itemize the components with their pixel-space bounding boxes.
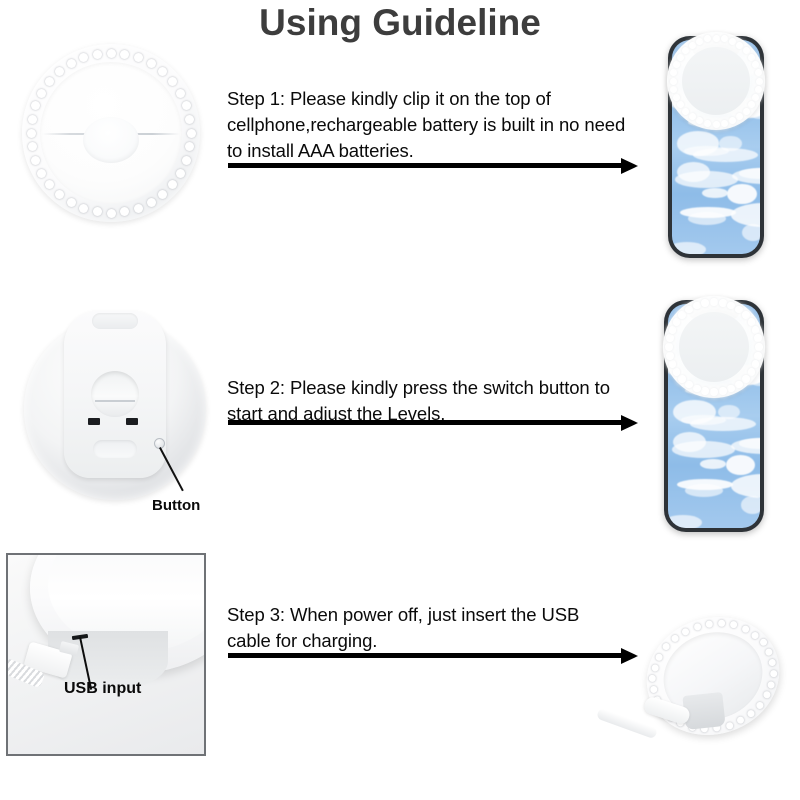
led-dot <box>666 352 674 360</box>
arrow-head-icon <box>621 415 638 431</box>
led-dot <box>765 648 774 657</box>
led-dot <box>28 115 37 124</box>
ring-light-clip-arm <box>64 311 166 478</box>
led-dot <box>719 387 727 395</box>
clipped-ring-light-step-1 <box>667 32 765 130</box>
led-dot <box>678 375 686 383</box>
led-dot <box>693 622 702 631</box>
led-dot <box>701 299 709 307</box>
led-dot <box>754 352 762 360</box>
led-dot <box>55 190 64 199</box>
cloud-shape <box>688 212 726 225</box>
led-dot <box>769 669 778 678</box>
led-dot <box>717 619 726 628</box>
ring-light-aperture <box>679 312 749 382</box>
cloud-shape <box>668 515 702 528</box>
led-dot <box>743 47 750 54</box>
led-dot <box>182 156 191 165</box>
led-dot <box>168 180 177 189</box>
led-dot <box>741 624 750 633</box>
led-dot <box>67 59 76 68</box>
led-dot <box>743 108 750 115</box>
led-dot <box>670 78 677 85</box>
led-dot <box>669 360 677 368</box>
clip-tab <box>92 313 138 329</box>
led-dot <box>752 61 759 68</box>
cloud-shape <box>731 438 760 454</box>
cloud-shape <box>672 441 735 458</box>
led-dot <box>27 129 36 138</box>
step-3-text: Step 3: When power off, just insert the … <box>227 602 627 654</box>
led-dot <box>649 685 658 694</box>
clip-contact-left <box>88 418 100 425</box>
led-dot <box>187 129 196 138</box>
cloud-shape <box>749 251 760 254</box>
led-dot <box>134 204 143 213</box>
ring-light-led-ring <box>631 600 758 641</box>
step-2-arrow <box>228 415 638 431</box>
led-dot <box>655 653 664 662</box>
led-dot <box>93 207 102 216</box>
led-dot <box>729 117 736 124</box>
usb-input-photo: USB input <box>6 553 206 756</box>
led-dot <box>696 117 703 124</box>
led-dot <box>176 89 185 98</box>
usb-callout-label: USB input <box>64 680 141 698</box>
led-dot <box>727 302 735 310</box>
led-dot <box>93 50 102 59</box>
led-dot <box>685 381 693 389</box>
led-dot <box>689 113 696 120</box>
led-dot <box>79 204 88 213</box>
clip-contact-right <box>126 418 138 425</box>
led-dot <box>713 121 720 128</box>
cloud-shape <box>742 224 760 242</box>
led-dot <box>37 89 46 98</box>
arrow-shaft <box>228 163 622 168</box>
led-dot <box>665 343 673 351</box>
led-dot <box>713 35 720 42</box>
led-dot <box>673 94 680 101</box>
led-dot <box>693 385 701 393</box>
arrow-head-icon <box>621 158 638 174</box>
led-dot <box>670 69 677 76</box>
clip-camera-hole <box>91 371 139 417</box>
led-dot <box>176 169 185 178</box>
clipped-ring-light-step-2 <box>663 296 765 398</box>
cloud-shape <box>726 455 755 475</box>
led-dot <box>648 674 657 683</box>
led-dot <box>669 326 677 334</box>
using-guideline-infographic: Using Guideline Step 1: Please kindly cl… <box>0 0 800 800</box>
cloud-shape <box>731 203 760 227</box>
led-dot <box>752 360 760 368</box>
arrow-head-icon <box>621 648 638 664</box>
led-dot <box>756 701 765 710</box>
led-dot <box>107 209 116 218</box>
led-dot <box>677 54 684 61</box>
step-3-arrow <box>228 648 638 664</box>
ring-light-front-view-image <box>22 44 200 222</box>
led-dot <box>673 368 681 376</box>
led-dot <box>767 680 776 689</box>
led-dot <box>158 190 167 199</box>
led-dot <box>693 302 701 310</box>
led-dot <box>735 381 743 389</box>
led-dot <box>754 334 762 342</box>
led-dot <box>67 198 76 207</box>
led-dot <box>685 306 693 314</box>
led-dot <box>721 120 728 127</box>
led-dot <box>755 69 762 76</box>
led-dot <box>710 388 718 396</box>
led-dot <box>182 101 191 110</box>
led-dot <box>752 94 759 101</box>
led-dot <box>682 108 689 115</box>
ring-light-lens <box>83 117 139 163</box>
led-dot <box>681 627 690 636</box>
cloud-shape <box>731 474 760 498</box>
led-dot <box>729 38 736 45</box>
led-dot <box>752 326 760 334</box>
led-dot <box>755 86 762 93</box>
step-1-arrow <box>228 158 638 174</box>
cloud-shape <box>749 525 760 528</box>
clip-slot <box>93 440 137 458</box>
cloud-shape <box>741 496 760 514</box>
cloud-shape <box>727 184 756 204</box>
led-dot <box>168 77 177 86</box>
led-dot <box>147 59 156 68</box>
led-dot <box>755 343 763 351</box>
led-dot <box>742 375 750 383</box>
led-dot <box>650 663 659 672</box>
led-dot <box>37 169 46 178</box>
cloud-shape <box>685 484 723 497</box>
led-dot <box>704 120 711 127</box>
arrow-shaft <box>228 420 622 425</box>
led-dot <box>748 101 755 108</box>
led-dot <box>751 631 760 640</box>
led-dot <box>696 38 703 45</box>
led-dot <box>719 299 727 307</box>
led-dot <box>682 47 689 54</box>
led-dot <box>748 368 756 376</box>
ring-light-back-view-image <box>24 318 206 500</box>
led-dot <box>661 643 670 652</box>
led-dot <box>666 334 674 342</box>
led-dot <box>736 42 743 49</box>
led-dot <box>704 35 711 42</box>
led-dot <box>710 298 718 306</box>
led-dot <box>721 35 728 42</box>
led-dot <box>670 634 679 643</box>
led-dot <box>677 101 684 108</box>
led-dot <box>670 86 677 93</box>
ring-light-aperture <box>682 47 750 115</box>
cloud-shape <box>672 242 706 254</box>
led-dot <box>730 620 739 629</box>
step-1-text: Step 1: Please kindly clip it on the top… <box>227 86 637 164</box>
led-dot <box>747 709 756 718</box>
led-dot <box>678 311 686 319</box>
led-dot <box>673 318 681 326</box>
led-dot <box>705 619 714 628</box>
led-dot <box>689 42 696 49</box>
clip-hole-edge <box>95 400 135 402</box>
cloud-shape <box>675 171 738 188</box>
led-dot <box>762 691 771 700</box>
cloud-shape <box>700 459 726 469</box>
led-dot <box>185 115 194 124</box>
led-dot <box>725 721 734 730</box>
led-dot <box>673 61 680 68</box>
led-dot <box>768 658 777 667</box>
led-dot <box>759 638 768 647</box>
ring-light-charging-image <box>638 614 788 764</box>
cloud-shape <box>702 188 728 198</box>
led-dot <box>748 318 756 326</box>
arrow-shaft <box>228 653 622 658</box>
led-dot <box>756 78 763 85</box>
button-callout-label: Button <box>152 497 200 514</box>
led-dot <box>147 198 156 207</box>
led-dot <box>701 387 709 395</box>
led-dot <box>736 113 743 120</box>
led-dot <box>736 716 745 725</box>
led-dot <box>107 49 116 58</box>
led-dot <box>748 54 755 61</box>
led-dot <box>727 385 735 393</box>
